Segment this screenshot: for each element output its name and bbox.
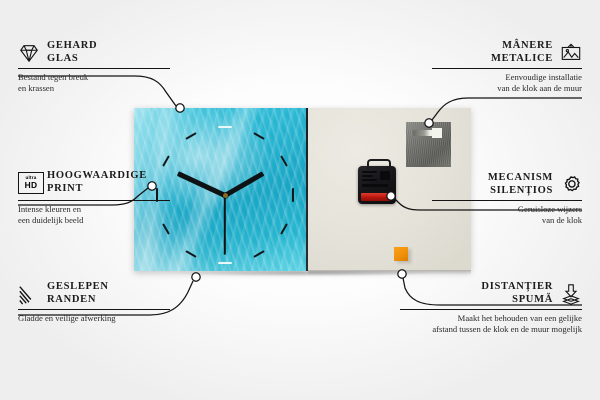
movement-detail [380,171,390,180]
feature-mecanism-silentios: MECANISM SILENȚIOS Geruisloze wijzers va… [424,172,582,226]
clock-tick [218,262,232,264]
feature-heading: DISTANȚIER SPUMĂ [392,281,582,306]
clock-tick [162,155,170,166]
feature-manere-metalice: MÂNERE METALICE Eenvoudige installatie v… [424,40,582,94]
clock-minute-hand [177,171,226,198]
clock-tick [185,132,196,140]
back-panel-shadow [308,270,471,275]
feature-title: GESLEPEN RANDEN [47,281,109,306]
feature-heading: MÂNERE METALICE [424,40,582,65]
aa-battery [361,193,391,201]
diamond-icon [18,42,40,64]
feature-rule [432,200,582,201]
feature-rule [18,68,170,69]
feature-title: HOOGWAARDIGE PRINT [47,170,147,195]
feature-title: DISTANȚIER SPUMĂ [481,281,553,306]
hanger-bracket-icon [367,159,391,170]
feature-gehard-glas: GEHARD GLAS Bestand tegen breuk en krass… [18,40,178,94]
ultra-hd-icon: ultra HD [18,172,40,194]
movement-detail [362,175,373,177]
metal-hanger-plate [406,122,451,167]
feature-description: Geruisloze wijzers van de klok [424,204,582,226]
clock-tick [218,126,232,128]
feature-description: Intense kleuren en een duidelijk beeld [18,204,178,226]
feature-distantier-spuma: DISTANȚIER SPUMĂ Maakt het behouden van … [392,281,582,335]
quartz-movement [358,166,396,204]
feature-geslepen-randen: GESLEPEN RANDEN Gladde en veilige afwerk… [18,281,178,324]
clock-second-hand [224,195,226,255]
beveled-edge-icon [18,283,40,305]
clock-hour-hand [224,171,265,197]
feature-title: GEHARD GLAS [47,40,97,65]
keyhole-slot [413,130,441,136]
clock-tick [280,223,288,234]
feature-rule [18,200,170,201]
spacer-arrow-icon [560,283,582,305]
feature-heading: MECANISM SILENȚIOS [424,172,582,197]
feature-heading: GESLEPEN RANDEN [18,281,178,306]
movement-detail [362,179,377,181]
clock-tick [292,188,294,202]
feature-title: MECANISM SILENȚIOS [488,172,553,197]
feature-rule [18,309,170,310]
feature-rule [432,68,582,69]
ultra-hd-bottom-label: HD [25,181,38,189]
clock-tick [253,250,264,258]
feature-description: Gladde en veilige afwerking [18,313,178,324]
feature-description: Maakt het behouden van een gelijke afsta… [392,313,582,335]
feature-description: Eenvoudige installatie van de klok aan d… [424,72,582,94]
gear-icon [560,174,582,196]
feature-title: MÂNERE METALICE [491,40,553,65]
clock-tick [280,155,288,166]
movement-detail [362,184,388,187]
feature-heading: GEHARD GLAS [18,40,178,65]
feature-rule [400,309,582,310]
infographic-canvas: GEHARD GLAS Bestand tegen breuk en krass… [0,0,600,400]
clock-tick [253,132,264,140]
feature-heading: ultra HD HOOGWAARDIGE PRINT [18,170,178,195]
movement-detail [362,171,377,173]
feature-description: Bestand tegen breuk en krassen [18,72,178,94]
clock-center-hub [223,193,228,198]
clock-tick [185,250,196,258]
feature-hoogwaardige-print: ultra HD HOOGWAARDIGE PRINT Intense kleu… [18,170,178,226]
wall-hanger-icon [560,42,582,64]
foam-spacer [394,247,408,261]
